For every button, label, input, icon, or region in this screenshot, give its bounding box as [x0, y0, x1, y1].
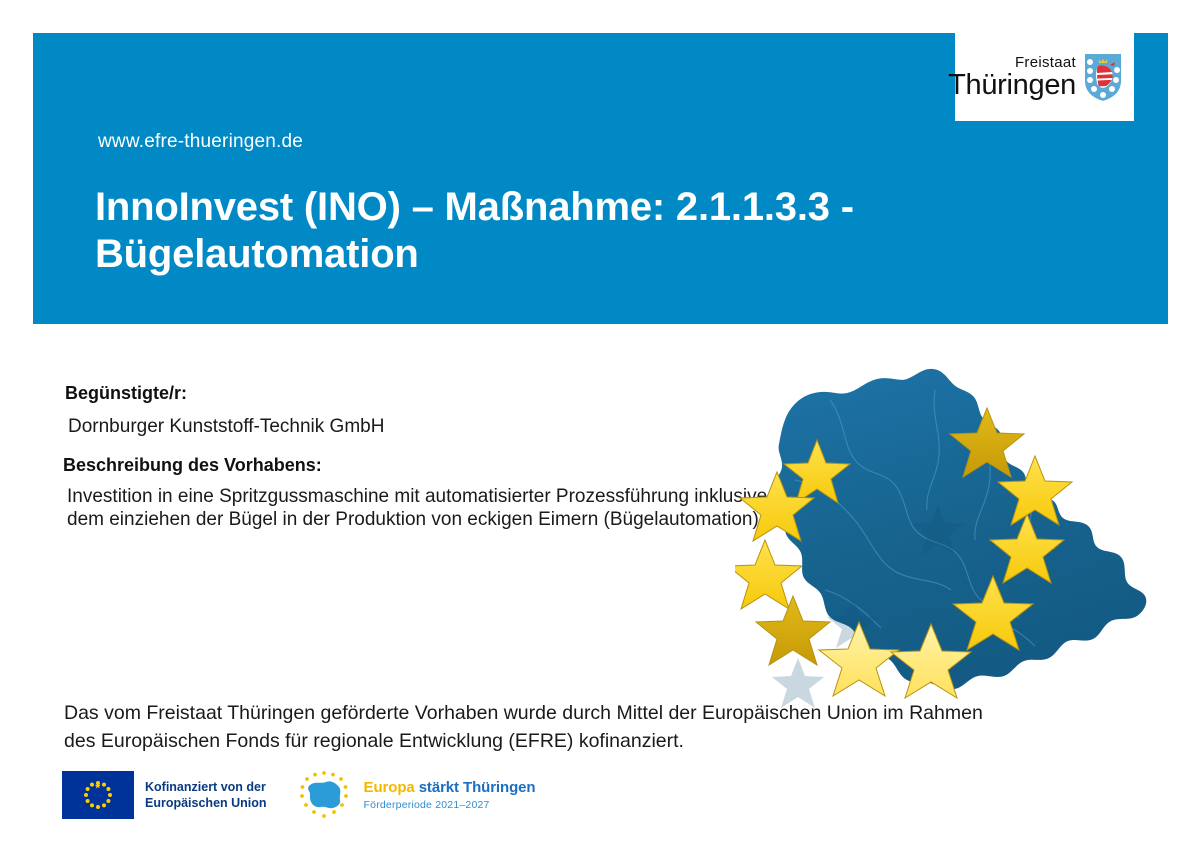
thuringia-coat-of-arms-icon [1082, 51, 1124, 103]
thuringia-stars-icon [293, 768, 355, 822]
funding-note: Das vom Freistaat Thüringen geförderte V… [64, 700, 1004, 755]
page-title: InnoInvest (INO) – Maßnahme: 2.1.1.3.3 -… [95, 184, 1055, 278]
beneficiary-label: Begünstigte/r: [65, 383, 187, 404]
eu-cofunding-label: Kofinanziert von der Europäischen Union [145, 779, 267, 811]
logo-wordmark: Freistaat Thüringen [948, 55, 1076, 100]
logo-freistaat-label: Freistaat [1015, 55, 1076, 70]
beneficiary-value: Dornburger Kunststoff-Technik GmbH [68, 415, 384, 439]
est-wordmark: Europa stärkt Thüringen Förderperiode 20… [364, 779, 536, 810]
footer-logos: Kofinanziert von der Europäischen Union [62, 768, 535, 822]
europa-staerkt-thueringen-logo: Europa stärkt Thüringen Förderperiode 20… [293, 768, 536, 822]
eu-flag-icon [62, 771, 134, 819]
site-url[interactable]: www.efre-thueringen.de [98, 131, 303, 153]
thuringia-map-graphic [735, 360, 1175, 720]
poster-root: www.efre-thueringen.de InnoInvest (INO) … [0, 0, 1200, 849]
est-funding-period: Förderperiode 2021–2027 [364, 799, 536, 811]
freistaat-thueringen-logo: Freistaat Thüringen [955, 33, 1134, 121]
eu-cofunding-logo: Kofinanziert von der Europäischen Union [62, 771, 267, 819]
est-word-staerkt-thueringen: stärkt Thüringen [419, 779, 536, 796]
est-line1: Europa stärkt Thüringen [364, 779, 536, 796]
description-label: Beschreibung des Vorhabens: [63, 455, 322, 476]
est-word-europa: Europa [364, 779, 419, 796]
logo-state-name: Thüringen [948, 71, 1076, 100]
description-value: Investition in eine Spritzgussmaschine m… [67, 485, 797, 531]
